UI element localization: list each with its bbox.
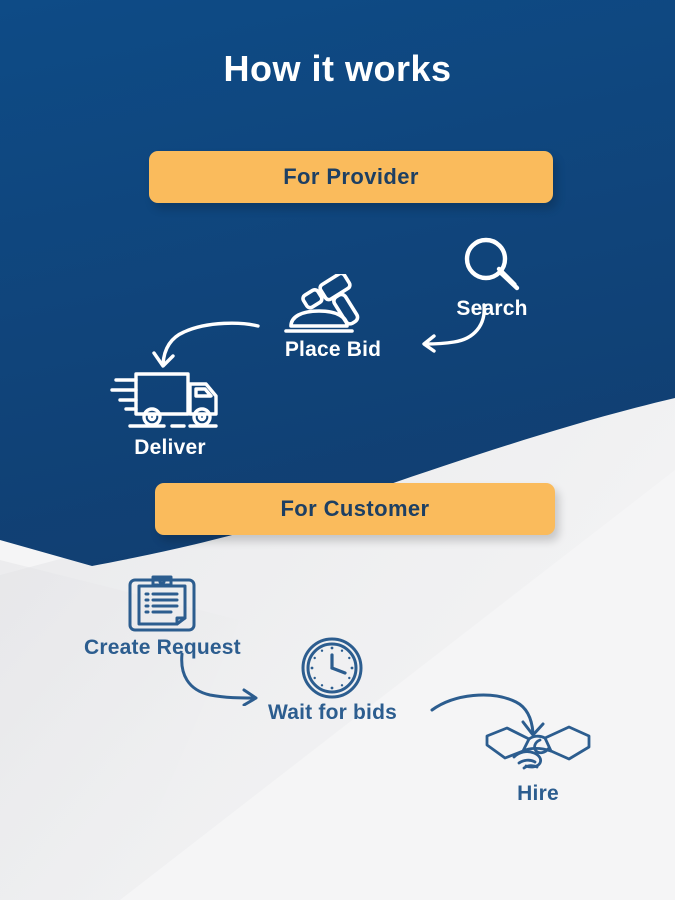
step-hire[interactable]: Hire [483, 718, 593, 806]
for-provider-button-label: For Provider [283, 164, 419, 190]
step-place-bid-label: Place Bid [285, 338, 381, 362]
for-customer-button[interactable]: For Customer [155, 483, 555, 535]
for-customer-button-label: For Customer [280, 496, 429, 522]
step-search[interactable]: Search [455, 233, 529, 321]
step-wait-for-bids[interactable]: Wait for bids [268, 637, 397, 725]
clock-icon [291, 637, 373, 699]
gavel-icon [277, 274, 389, 336]
step-wait-for-bids-label: Wait for bids [268, 701, 397, 725]
step-place-bid[interactable]: Place Bid [277, 274, 389, 362]
step-create-request-label: Create Request [84, 636, 241, 660]
curved-arrow-right-icon [178, 652, 268, 706]
step-search-label: Search [456, 297, 527, 321]
clipboard-list-icon [119, 574, 205, 634]
magnifier-icon [455, 233, 529, 295]
step-deliver[interactable]: Deliver [110, 362, 230, 460]
step-hire-label: Hire [517, 782, 559, 806]
for-provider-button[interactable]: For Provider [149, 151, 553, 203]
step-deliver-label: Deliver [134, 436, 205, 460]
step-create-request[interactable]: Create Request [84, 574, 241, 660]
delivery-truck-icon [110, 362, 230, 434]
how-it-works-screen: How it works For Provider Search [0, 0, 675, 900]
handshake-icon [483, 718, 593, 780]
page-title: How it works [0, 48, 675, 90]
